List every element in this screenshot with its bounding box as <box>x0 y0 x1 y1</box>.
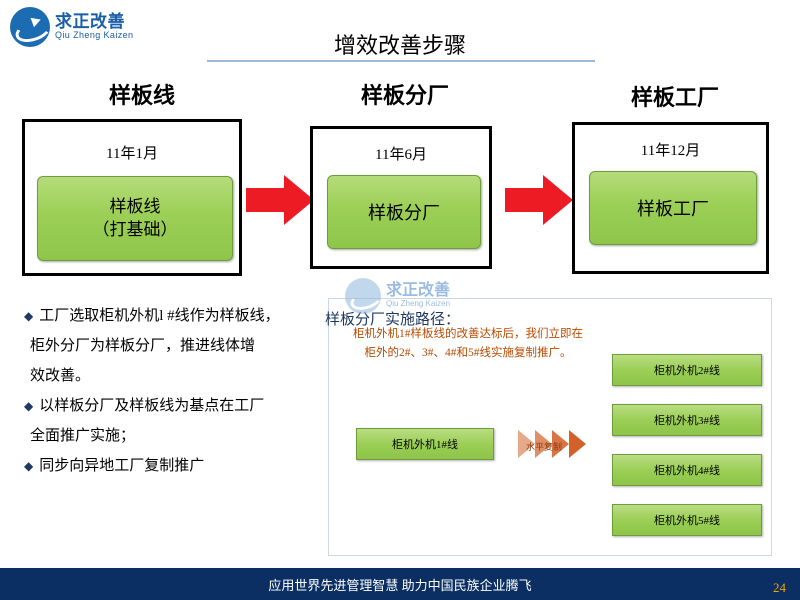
stage-heading-3: 样板工厂 <box>575 80 775 112</box>
stage-box-2: 11年6月 样板分厂 <box>310 126 492 269</box>
list-item-text: 工厂选取柜机外机l #线作为样板线， <box>39 304 279 328</box>
stage-inner-box-2: 样板分厂 <box>327 175 481 249</box>
stage-inner-label-1a: 样板线 <box>93 196 178 219</box>
stage-inner-label-3: 样板工厂 <box>637 195 709 221</box>
list-item: ◆ 同步向异地工厂复制推广 <box>24 454 369 478</box>
replication-arrow-icon: 水平复制 <box>518 424 602 464</box>
bullet-list: ◆ 工厂选取柜机外机l #线作为样板线， 柜外分厂为样板分厂，推进线体增 效改善… <box>24 304 369 484</box>
title-divider <box>207 60 595 62</box>
list-item-text: 同步向异地工厂复制推广 <box>39 454 204 478</box>
page-title: 增效改善步骤 <box>0 28 800 60</box>
stage-date-1: 11年1月 <box>25 142 239 163</box>
arrow-head <box>543 175 573 225</box>
footer-bar: 应用世界先进管理智慧 助力中国民族企业腾飞 <box>0 568 800 600</box>
diamond-bullet-icon: ◆ <box>24 394 33 418</box>
stage-box-3: 11年12月 样板工厂 <box>572 122 769 274</box>
list-item-text: 柜外分厂为样板分厂，推进线体增 <box>30 334 255 358</box>
list-item-text: 以样板分厂及样板线为基点在工厂 <box>39 394 264 418</box>
replication-arrow-label: 水平复制 <box>526 440 562 453</box>
stage-date-3: 11年12月 <box>575 139 766 160</box>
stage-inner-label-2: 样板分厂 <box>368 199 440 225</box>
target-line-chip-4: 柜机外机5#线 <box>612 504 762 536</box>
diamond-bullet-icon: ◆ <box>24 454 33 478</box>
list-item: 柜外分厂为样板分厂，推进线体增 <box>24 334 369 358</box>
stage-heading-2: 样板分厂 <box>305 78 505 110</box>
footer-text: 应用世界先进管理智慧 助力中国民族企业腾飞 <box>268 575 531 594</box>
list-item: ◆ 以样板分厂及样板线为基点在工厂 <box>24 394 369 418</box>
target-line-chip-2: 柜机外机3#线 <box>612 404 762 436</box>
list-item-text: 全面推广实施； <box>30 424 135 448</box>
source-line-chip: 柜机外机1#线 <box>356 428 494 460</box>
sub-diagram-note: 柜机外机1#样板线的改善达标后，我们立即在柜外的2#、3#、4#和5#线实施复制… <box>352 325 584 363</box>
watermark-text: 求正改善 Qiu Zheng Kaizen <box>386 283 450 308</box>
watermark-logo: 求正改善 Qiu Zheng Kaizen <box>345 275 485 317</box>
watermark-chinese-name: 求正改善 <box>386 283 450 300</box>
target-line-chip-1: 柜机外机2#线 <box>612 354 762 386</box>
arrow-shaft <box>505 188 545 212</box>
list-item: ◆ 工厂选取柜机外机l #线作为样板线， <box>24 304 369 328</box>
stage-box-1: 11年1月 样板线 （打基础） <box>22 119 242 276</box>
stage-inner-label-1b: （打基础） <box>93 219 178 242</box>
watermark-compass-icon <box>345 278 381 314</box>
stage-heading-1: 样板线 <box>42 78 242 110</box>
stage-inner-box-1: 样板线 （打基础） <box>37 176 233 261</box>
page-number: 24 <box>773 580 786 596</box>
list-item-text: 效改善。 <box>30 364 90 388</box>
arrow-right-icon-2 <box>505 175 573 225</box>
watermark-english-name: Qiu Zheng Kaizen <box>386 300 450 308</box>
stage-inner-box-3: 样板工厂 <box>589 171 757 245</box>
diamond-bullet-icon: ◆ <box>24 304 33 328</box>
arrow-right-icon-1 <box>246 175 314 225</box>
list-item: 效改善。 <box>24 364 369 388</box>
target-line-chip-3: 柜机外机4#线 <box>612 454 762 486</box>
chevron-4 <box>569 430 586 458</box>
list-item: 全面推广实施； <box>24 424 369 448</box>
arrow-shaft <box>246 188 286 212</box>
stage-date-2: 11年6月 <box>313 143 489 164</box>
